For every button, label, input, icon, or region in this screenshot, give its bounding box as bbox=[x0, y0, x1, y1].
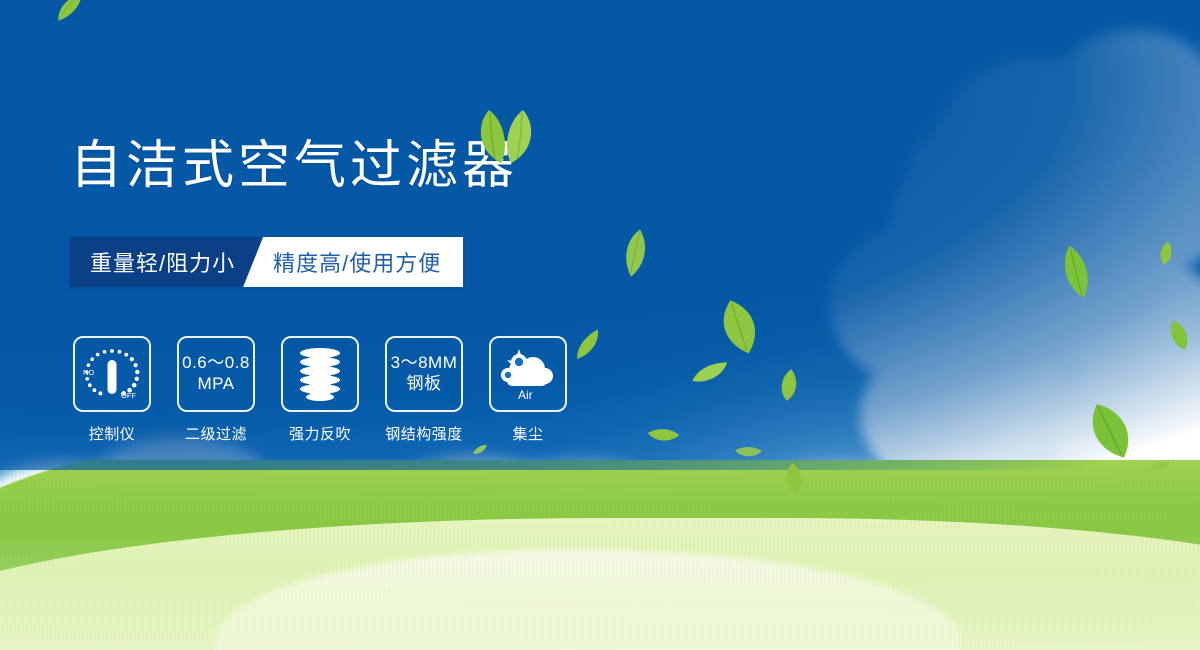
dial-label-off: OFF bbox=[121, 391, 136, 400]
pressure-line-2: MPA bbox=[182, 374, 250, 395]
feature-label: 控制仪 bbox=[89, 423, 136, 444]
sprout-leaves-icon bbox=[465, 108, 545, 164]
pressure-text-icon: 0.6～0.8 MPA bbox=[182, 353, 250, 394]
dial-label-no: NO bbox=[83, 368, 94, 377]
feature-icon-box: 3～8MM 钢板 bbox=[385, 336, 463, 412]
tag-secondary: 精度高/使用方便 bbox=[243, 237, 463, 287]
steel-line-1: 3～8MM bbox=[391, 353, 458, 374]
feature-icon-box bbox=[281, 336, 359, 412]
feature-list: NO OFF 控制仪 0.6～0.8 MPA 二级过滤 bbox=[72, 336, 568, 444]
feature-icon-box: 0.6～0.8 MPA bbox=[177, 336, 255, 412]
grass-field bbox=[0, 460, 1200, 650]
filter-cartridge-icon bbox=[293, 345, 347, 403]
cloud-sun-air-icon: Air bbox=[497, 345, 559, 403]
feature-label: 集尘 bbox=[512, 423, 543, 444]
field-light-glow bbox=[0, 530, 1200, 650]
headline-block: 自洁式空气过滤器 bbox=[70, 140, 518, 192]
feature-item-control-gauge[interactable]: NO OFF 控制仪 bbox=[72, 336, 152, 444]
subtitle-tag-bar: 重量轻/阻力小 精度高/使用方便 bbox=[70, 237, 463, 287]
hero-banner: 自洁式空气过滤器 重量轻/阻力小 精度高/使用方便 bbox=[0, 0, 1200, 650]
feature-label: 强力反吹 bbox=[289, 423, 351, 444]
feature-item-pressure[interactable]: 0.6～0.8 MPA 二级过滤 bbox=[176, 336, 256, 444]
feature-item-backflush[interactable]: 强力反吹 bbox=[280, 336, 360, 444]
air-label: Air bbox=[518, 388, 533, 402]
page-title: 自洁式空气过滤器 bbox=[70, 140, 518, 192]
feature-item-steel-plate[interactable]: 3～8MM 钢板 钢结构强度 bbox=[384, 336, 464, 444]
gauge-dial-icon: NO OFF bbox=[81, 345, 143, 403]
pressure-line-1: 0.6～0.8 bbox=[182, 353, 250, 374]
feature-item-dust-collection[interactable]: Air 集尘 bbox=[488, 336, 568, 444]
feature-icon-box: Air bbox=[489, 336, 567, 412]
feature-icon-box: NO OFF bbox=[73, 336, 151, 412]
steel-line-2: 钢板 bbox=[391, 374, 458, 395]
feature-label: 钢结构强度 bbox=[385, 423, 463, 444]
tag-primary: 重量轻/阻力小 bbox=[70, 237, 261, 287]
steel-plate-text-icon: 3～8MM 钢板 bbox=[391, 353, 458, 394]
feature-label: 二级过滤 bbox=[185, 423, 247, 444]
